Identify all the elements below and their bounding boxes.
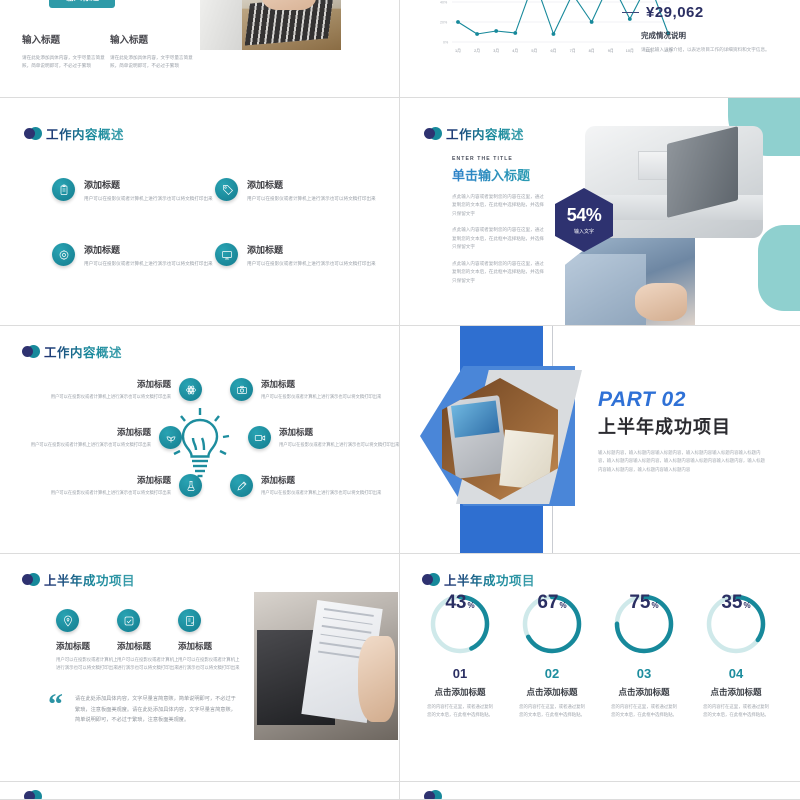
chart-x-tick-label: 9月 — [608, 48, 614, 53]
chart-x-tick-label: 4月 — [512, 48, 518, 53]
item-body: 用户可以在投影仪或者计算机上进行演示也可以将文稿打印出来 — [261, 489, 381, 497]
slide-gallery: 输入标题 输入标题 请在此处添加具体内容，文字尽量言简意赅，简单说明即可，不必过… — [0, 0, 800, 800]
meeting-document-photo — [254, 592, 398, 740]
hexagon-value: 54% — [567, 205, 602, 226]
donut-value: 43 — [445, 592, 466, 614]
input-title-button[interactable]: 输入标题 — [49, 0, 115, 8]
slide-thumbnail-05[interactable]: 工作内容概述 添加标题 用户可以在投影仪或者计算机上进行演示也可以将文 — [0, 326, 400, 554]
chart-x-tick-label: 6月 — [550, 48, 556, 53]
donut-gauge-item[interactable]: 35 % 04 点击添加标题 您的内容打在这里，或者通过复制您的文本后，在此框中… — [692, 592, 780, 719]
amount-value: ¥29,062 — [646, 4, 704, 21]
slide-thumbnail-07[interactable]: 上半年成功项目 添加标题 用户可以在投影仪或者计算机上进行演示也可以将文稿打印出… — [0, 554, 400, 782]
pen-icon — [230, 474, 253, 497]
item-heading: 添加标题 — [261, 474, 381, 486]
feature-item[interactable]: 添加标题 用户可以在投影仪或者计算机上进行演示也可以将文稿打印出来 — [52, 243, 214, 268]
navy-dot-icon — [424, 791, 435, 800]
hexagon-label: 输入文字 — [574, 228, 594, 235]
slide-thumbnail-09-cropped[interactable] — [0, 782, 400, 800]
quote-mark-icon: “ — [48, 694, 63, 726]
feature-item[interactable]: 添加标题 用户可以在投影仪或者计算机上进行演示也可以将文稿打印出来 — [215, 178, 377, 203]
feature-item[interactable]: 添加标题 用户可以在投影仪或者计算机上进行演示也可以将文稿打印出来 — [215, 243, 377, 268]
section-heading: 上半年成功项目 — [22, 570, 135, 589]
navy-dot-icon — [24, 791, 35, 800]
part-number: PART 02 — [598, 388, 768, 412]
slide-thumbnail-10-cropped[interactable] — [400, 782, 800, 800]
paragraph: 点此输入内容或者复制您的内容在这里，通过复制您的文本后，在此框中选择粘贴，并选择… — [452, 226, 544, 251]
donut-suffix: % — [468, 601, 475, 610]
completion-description: 完成情况说明 请在此输入详细介绍，以表达项目工作的详细资料和文字信息。 — [641, 30, 771, 54]
navy-dot-icon — [422, 574, 433, 585]
donut-value: 67 — [537, 592, 558, 614]
feature-item[interactable]: 添加标题 用户可以在投影仪或者计算机上进行演示也可以将文稿打印出来 — [52, 178, 214, 203]
donut-chart: 67 % — [520, 592, 584, 656]
item-number: 03 — [600, 666, 688, 681]
slide-thumbnail-04[interactable]: 工作内容概述 ENTER THE TITLE 单击输入标题 点此输入内容或者复制… — [400, 98, 800, 326]
donut-value: 75 — [629, 592, 650, 614]
slide-thumbnail-08[interactable]: 上半年成功项目 43 % 01 点击添加标题 您的内容打在这里，或者通过复制您的… — [400, 554, 800, 782]
item-body: 用户可以在投影仪或者计算机上进行演示也可以将文稿打印出来 — [247, 260, 376, 268]
section-title: 工作内容概述 — [44, 342, 122, 361]
tag-icon — [215, 178, 238, 201]
chart-x-tick-label: 7月 — [570, 48, 576, 53]
feature-item[interactable]: 添加标题 用户可以在投影仪或者计算机上进行演示也可以将文稿打印出来 — [14, 426, 182, 449]
camera-icon — [230, 378, 253, 401]
column-heading: 输入标题 — [22, 32, 110, 46]
column-body: 请在此处添加具体内容，文字尽量言简意赅，简单说明即可，不必过于繁琐 — [22, 54, 110, 70]
item-body: 用户可以在投影仪或者计算机上进行演示也可以将文稿打印出来 — [56, 656, 118, 671]
section-title: 上半年成功项目 — [44, 570, 135, 589]
decorative-blob-bottom-right — [758, 225, 800, 311]
monitor-icon — [215, 243, 238, 266]
section-title: 工作内容概述 — [446, 124, 524, 143]
text-column-2: 输入标题 请在此处添加具体内容，文字尽量言简意赅，简单说明即可，不必过于繁琐 — [110, 32, 198, 70]
section-title: 上半年成功项目 — [444, 570, 535, 589]
donut-suffix: % — [560, 601, 567, 610]
navy-dot-icon — [424, 128, 435, 139]
item-desc: 您的内容打在这里，或者通过复制您的文本后，在此框中选择粘贴。 — [416, 703, 504, 719]
donut-suffix: % — [652, 601, 659, 610]
item-title: 点击添加标题 — [692, 686, 780, 698]
check-square-icon — [117, 609, 140, 632]
item-body: 用户可以在投影仪或者计算机上进行演示也可以将文稿打印出来 — [247, 195, 376, 203]
section-heading — [24, 790, 42, 800]
feature-item[interactable]: 添加标题 用户可以在投影仪或者计算机上进行演示也可以将文稿打印出来 — [248, 426, 400, 449]
item-body: 用户可以在投影仪或者计算机上进行演示也可以将文稿打印出来 — [84, 260, 213, 268]
amount-row: ¥29,062 — [622, 4, 704, 21]
flask-icon — [179, 474, 202, 497]
feature-column[interactable]: 添加标题 用户可以在投影仪或者计算机上进行演示也可以将文稿打印出来 — [178, 609, 240, 671]
chart-x-tick-label: 10月 — [626, 48, 634, 53]
item-number: 01 — [416, 666, 504, 681]
chart-x-tick-label: 2月 — [474, 48, 480, 53]
item-desc: 您的内容打在这里，或者通过复制您的文本后，在此框中选择粘贴。 — [600, 703, 688, 719]
document-check-icon — [178, 609, 201, 632]
column-body: 请在此处添加具体内容，文字尽量言简意赅，简单说明即可，不必过于繁琐 — [110, 54, 198, 70]
feature-item[interactable]: 添加标题 用户可以在投影仪或者计算机上进行演示也可以将文稿打印出来 — [34, 474, 202, 497]
item-heading: 添加标题 — [261, 378, 381, 390]
chart-data-point — [590, 20, 594, 24]
feature-item[interactable]: 添加标题 用户可以在投影仪或者计算机上进行演示也可以将文稿打印出来 — [230, 378, 398, 401]
item-body: 用户可以在投影仪或者计算机上进行演示也可以将文稿打印出来 — [31, 441, 151, 449]
part-description: 输入标题内容，输入标题内容输入标题内容，输入标题内容输入标题内容输入标题内容，输… — [598, 449, 768, 474]
eyebrow-label: ENTER THE TITLE — [452, 156, 544, 162]
item-heading: 添加标题 — [84, 178, 213, 191]
donut-gauge-item[interactable]: 43 % 01 点击添加标题 您的内容打在这里，或者通过复制您的文本后，在此框中… — [416, 592, 504, 719]
navy-dot-icon — [24, 128, 35, 139]
slide-thumbnail-02[interactable]: 40% 20% 0% 1月2月3月4月5月6月7月8月9月10月11月12月 ¥… — [400, 0, 800, 98]
desc-heading: 完成情况说明 — [641, 30, 771, 41]
feature-column[interactable]: 添加标题 用户可以在投影仪或者计算机上进行演示也可以将文稿打印出来 — [56, 609, 118, 671]
paragraph: 点此输入内容或者复制您的内容在这里，通过复制您的文本后，在此框中选择粘贴，并选择… — [452, 260, 544, 285]
part-text-block: PART 02 上半年成功项目 输入标题内容，输入标题内容输入标题内容，输入标题… — [598, 388, 768, 474]
slide-thumbnail-03[interactable]: 工作内容概述 添加标题 用户可以在投影仪或者计算机上进行演示也可以将文稿打印出来… — [0, 98, 400, 326]
section-heading: 工作内容概述 — [22, 342, 122, 361]
donut-chart: 75 % — [612, 592, 676, 656]
part-title: 上半年成功项目 — [598, 413, 768, 439]
quote-text: 请在此处添加具体内容，文字尽量言简意赅，简单说明即可，不必过于繁琐，注意板面美观… — [75, 694, 238, 726]
item-heading: 添加标题 — [247, 178, 376, 191]
item-body: 用户可以在投影仪或者计算机上进行演示也可以将文稿打印出来 — [51, 393, 171, 401]
svg-text:0%: 0% — [443, 41, 449, 45]
laptop-keyboard-photo — [200, 0, 341, 50]
section-heading: 上半年成功项目 — [422, 570, 535, 589]
quote-block: “ 请在此处添加具体内容，文字尽量言简意赅，简单说明即可，不必过于繁琐，注意板面… — [48, 694, 238, 726]
navy-dot-icon — [22, 346, 33, 357]
item-desc: 您的内容打在这里，或者通过复制您的文本后，在此框中选择粘贴。 — [692, 703, 780, 719]
leaf-icon — [159, 426, 182, 449]
section-heading: 工作内容概述 — [424, 124, 524, 143]
item-title: 点击添加标题 — [416, 686, 504, 698]
section-heading — [424, 790, 442, 800]
feature-item[interactable]: 添加标题 用户可以在投影仪或者计算机上进行演示也可以将文稿打印出来 — [230, 474, 398, 497]
donut-value: 35 — [721, 592, 742, 614]
navy-dot-icon — [22, 574, 33, 585]
item-body: 用户可以在投影仪或者计算机上进行演示也可以将文稿打印出来 — [51, 489, 171, 497]
chart-data-point — [494, 29, 498, 33]
chart-x-tick-label: 3月 — [493, 48, 499, 53]
donut-gauge-item[interactable]: 75 % 03 点击添加标题 您的内容打在这里，或者通过复制您的文本后，在此框中… — [600, 592, 688, 719]
item-heading: 添加标题 — [56, 640, 118, 652]
item-heading: 添加标题 — [84, 243, 213, 256]
feature-column[interactable]: 添加标题 用户可以在投影仪或者计算机上进行演示也可以将文稿打印出来 — [117, 609, 179, 671]
slide-thumbnail-06[interactable]: PART 02 上半年成功项目 输入标题内容，输入标题内容输入标题内容，输入标题… — [400, 326, 800, 554]
item-heading: 添加标题 — [31, 426, 151, 438]
item-heading: 添加标题 — [247, 243, 376, 256]
item-number: 02 — [508, 666, 596, 681]
item-body: 用户可以在投影仪或者计算机上进行演示也可以将文稿打印出来 — [261, 393, 381, 401]
legend-dash-icon — [622, 12, 639, 14]
item-title: 点击添加标题 — [600, 686, 688, 698]
donut-suffix: % — [744, 601, 751, 610]
feature-item[interactable]: 添加标题 用户可以在投影仪或者计算机上进行演示也可以将文稿打印出来 — [34, 378, 202, 401]
clipboard-icon — [52, 178, 75, 201]
item-number: 04 — [692, 666, 780, 681]
item-heading: 添加标题 — [51, 474, 171, 486]
donut-chart: 43 % — [428, 592, 492, 656]
item-heading: 添加标题 — [51, 378, 171, 390]
column-heading: 输入标题 — [110, 32, 198, 46]
paragraph: 点此输入内容或者复制您的内容在这里，通过复制您的文本后，在此框中选择粘贴，并选择… — [452, 193, 544, 218]
atom-icon — [179, 378, 202, 401]
item-body: 用户可以在投影仪或者计算机上进行演示也可以将文稿打印出来 — [178, 656, 240, 671]
svg-text:40%: 40% — [440, 1, 448, 5]
chart-data-point — [513, 31, 517, 35]
item-body: 用户可以在投影仪或者计算机上进行演示也可以将文稿打印出来 — [117, 656, 179, 671]
donut-gauge-item[interactable]: 67 % 02 点击添加标题 您的内容打在这里，或者通过复制您的文本后，在此框中… — [508, 592, 596, 719]
lightbulb-pin-icon — [56, 609, 79, 632]
section-heading: 工作内容概述 — [24, 124, 124, 143]
section-title: 工作内容概述 — [46, 124, 124, 143]
svg-text:20%: 20% — [440, 21, 448, 25]
item-heading: 添加标题 — [279, 426, 399, 438]
chart-x-tick-label: 5月 — [531, 48, 537, 53]
item-title: 点击添加标题 — [508, 686, 596, 698]
desc-body: 请在此输入详细介绍，以表达项目工作的详细资料和文字信息。 — [641, 46, 771, 54]
slide-thumbnail-01[interactable]: 输入标题 输入标题 请在此处添加具体内容，文字尽量言简意赅，简单说明即可，不必过… — [0, 0, 400, 98]
chart-data-point — [475, 32, 479, 36]
slide-title: 单击输入标题 — [452, 165, 544, 184]
item-heading: 添加标题 — [178, 640, 240, 652]
target-icon — [52, 243, 75, 266]
item-body: 用户可以在投影仪或者计算机上进行演示也可以将文稿打印出来 — [279, 441, 399, 449]
video-icon — [248, 426, 271, 449]
chart-x-tick-label: 1月 — [455, 48, 461, 53]
item-body: 用户可以在投影仪或者计算机上进行演示也可以将文稿打印出来 — [84, 195, 213, 203]
item-desc: 您的内容打在这里，或者通过复制您的文本后，在此框中选择粘贴。 — [508, 703, 596, 719]
item-heading: 添加标题 — [117, 640, 179, 652]
chart-x-tick-label: 8月 — [589, 48, 595, 53]
donut-chart: 35 % — [704, 592, 768, 656]
text-block: ENTER THE TITLE 单击输入标题 点此输入内容或者复制您的内容在这里… — [452, 156, 544, 293]
chart-data-point — [456, 20, 460, 24]
text-column-1: 输入标题 请在此处添加具体内容，文字尽量言简意赅，简单说明即可，不必过于繁琐 — [22, 32, 110, 70]
chart-data-point — [552, 32, 556, 36]
